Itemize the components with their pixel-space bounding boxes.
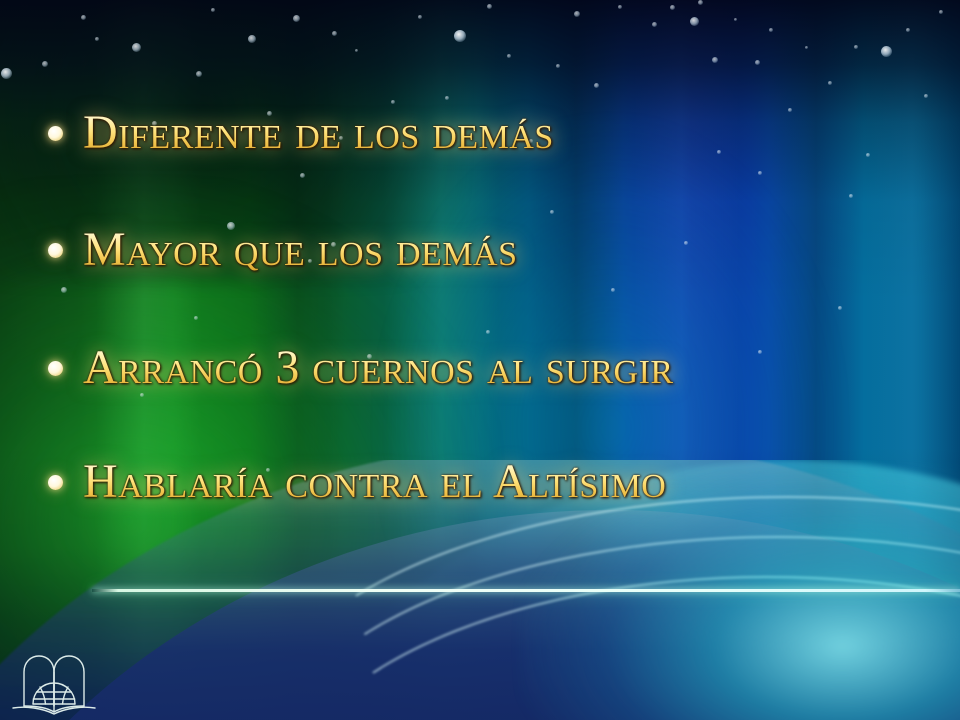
bullet-text-4: Hablaría contra el Altísimo [83, 458, 666, 506]
bullet-dot-icon [48, 126, 63, 141]
bullet-list: Diferente de los demás Mayor que los dem… [0, 0, 960, 560]
bullet-dot-icon [48, 361, 63, 376]
bullet-dot-icon [48, 243, 63, 258]
bullet-text-1: Diferente de los demás [83, 109, 554, 157]
horizontal-divider [92, 589, 960, 592]
presentation-slide: Diferente de los demás Mayor que los dem… [0, 0, 960, 720]
open-book-globe-icon [8, 642, 100, 716]
bullet-text-3: Arrancó 3 cuernos al surgir [83, 344, 674, 392]
bullet-dot-icon [48, 475, 63, 490]
bullet-text-2: Mayor que los demás [83, 226, 518, 274]
